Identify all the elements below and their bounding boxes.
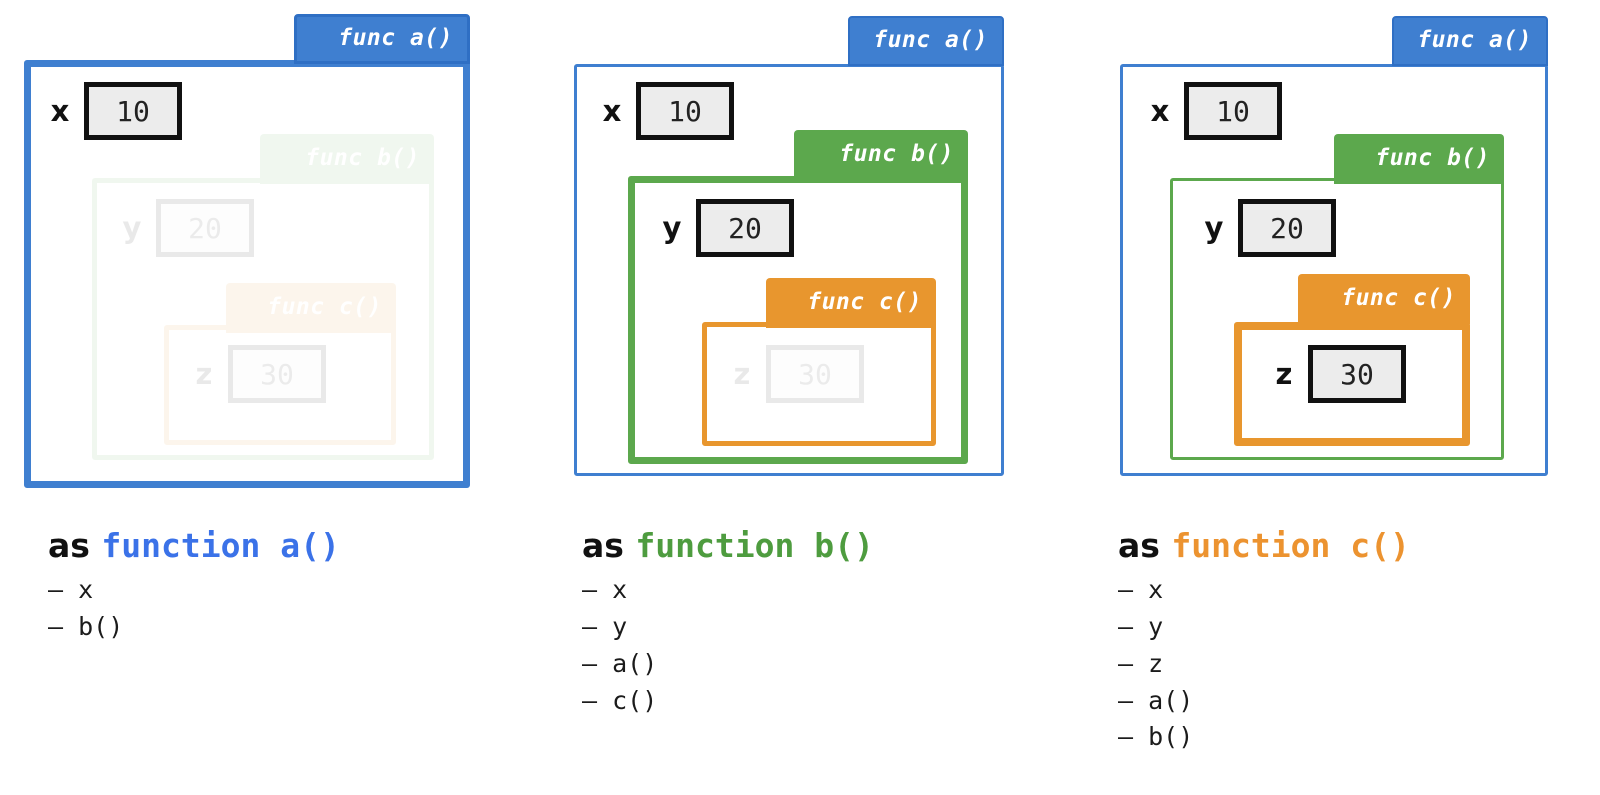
variable-x-name: x bbox=[1150, 97, 1170, 126]
caption-prefix: as bbox=[582, 526, 624, 565]
variable-x-value: 10 bbox=[84, 82, 182, 140]
variable-x-value: 10 bbox=[1184, 82, 1282, 140]
accessible-name: b() bbox=[1148, 722, 1193, 751]
scope-tab-b[interactable]: func b() bbox=[794, 130, 968, 180]
list-item: – x bbox=[582, 572, 1022, 609]
list-item: – a() bbox=[582, 646, 1022, 683]
variable-z: z 30 bbox=[1274, 345, 1406, 403]
variable-z-name: z bbox=[1274, 360, 1294, 389]
caption-title: as function c() bbox=[1118, 525, 1558, 566]
variable-x-value: 10 bbox=[636, 82, 734, 140]
caption-title: as function b() bbox=[582, 525, 1022, 566]
accessible-name: x bbox=[1148, 575, 1163, 604]
accessible-name: a() bbox=[612, 649, 657, 678]
variable-z: z 30 bbox=[194, 345, 326, 403]
variable-y: y 20 bbox=[122, 199, 254, 257]
bullet-dash: – bbox=[1118, 686, 1133, 715]
scope-tab-c[interactable]: func c() bbox=[226, 283, 396, 333]
accessible-name: x bbox=[78, 575, 93, 604]
variable-y-value: 20 bbox=[1238, 199, 1336, 257]
panel-function-c: func a() x 10 func b() y 20 func c() z 3… bbox=[1098, 0, 1598, 795]
bullet-dash: – bbox=[582, 612, 597, 641]
variable-x: x 10 bbox=[602, 82, 734, 140]
variable-z-value: 30 bbox=[228, 345, 326, 403]
accessible-names-list: – x – b() bbox=[48, 572, 488, 646]
variable-z-value: 30 bbox=[1308, 345, 1406, 403]
bullet-dash: – bbox=[48, 612, 63, 641]
list-item: – b() bbox=[48, 609, 488, 646]
bullet-dash: – bbox=[582, 686, 597, 715]
caption-function-a: as function a() – x – b() bbox=[48, 525, 488, 646]
panel-function-b: func a() x 10 func b() y 20 func c() z 3… bbox=[552, 0, 1052, 795]
list-item: – x bbox=[1118, 572, 1558, 609]
bullet-dash: – bbox=[1118, 722, 1133, 751]
accessible-name: b() bbox=[78, 612, 123, 641]
list-item: – b() bbox=[1118, 719, 1558, 756]
variable-z-name: z bbox=[194, 360, 214, 389]
scope-tab-c[interactable]: func c() bbox=[1298, 274, 1470, 324]
list-item: – c() bbox=[582, 683, 1022, 720]
list-item: – a() bbox=[1118, 683, 1558, 720]
list-item: – z bbox=[1118, 646, 1558, 683]
caption-function-b: as function b() – x – y – a() – c() bbox=[582, 525, 1022, 719]
accessible-name: c() bbox=[612, 686, 657, 715]
variable-y-name: y bbox=[662, 214, 682, 243]
variable-z-name: z bbox=[732, 360, 752, 389]
accessible-names-list: – x – y – z – a() – b() bbox=[1118, 572, 1558, 756]
variable-x: x 10 bbox=[1150, 82, 1282, 140]
caption-function-name: function c() bbox=[1171, 526, 1409, 565]
scope-tab-a[interactable]: func a() bbox=[294, 14, 470, 64]
variable-x: x 10 bbox=[50, 82, 182, 140]
list-item: – y bbox=[1118, 609, 1558, 646]
scope-tab-a[interactable]: func a() bbox=[1392, 16, 1548, 66]
accessible-name: a() bbox=[1148, 686, 1193, 715]
accessible-name: y bbox=[612, 612, 627, 641]
bullet-dash: – bbox=[582, 649, 597, 678]
caption-title: as function a() bbox=[48, 525, 488, 566]
variable-y-value: 20 bbox=[696, 199, 794, 257]
variable-y: y 20 bbox=[1204, 199, 1336, 257]
variable-y-value: 20 bbox=[156, 199, 254, 257]
caption-function-name: function b() bbox=[635, 526, 873, 565]
bullet-dash: – bbox=[1118, 649, 1133, 678]
accessible-name: z bbox=[1148, 649, 1163, 678]
scope-tab-c[interactable]: func c() bbox=[766, 278, 936, 328]
caption-prefix: as bbox=[1118, 526, 1160, 565]
scope-diagram: func a() x 10 func b() y 20 func c() z bbox=[0, 0, 1600, 795]
scope-tab-b[interactable]: func b() bbox=[260, 134, 434, 184]
accessible-name: x bbox=[612, 575, 627, 604]
caption-function-c: as function c() – x – y – z – a() – b() bbox=[1118, 525, 1558, 756]
bullet-dash: – bbox=[1118, 575, 1133, 604]
variable-z: z 30 bbox=[732, 345, 864, 403]
accessible-name: y bbox=[1148, 612, 1163, 641]
variable-y: y 20 bbox=[662, 199, 794, 257]
panel-function-a: func a() x 10 func b() y 20 func c() z bbox=[0, 0, 500, 795]
variable-x-name: x bbox=[602, 97, 622, 126]
scope-tab-b[interactable]: func b() bbox=[1334, 134, 1504, 184]
list-item: – y bbox=[582, 609, 1022, 646]
bullet-dash: – bbox=[48, 575, 63, 604]
caption-prefix: as bbox=[48, 526, 90, 565]
bullet-dash: – bbox=[1118, 612, 1133, 641]
scope-tab-a[interactable]: func a() bbox=[848, 16, 1004, 66]
caption-function-name: function a() bbox=[101, 526, 339, 565]
list-item: – x bbox=[48, 572, 488, 609]
accessible-names-list: – x – y – a() – c() bbox=[582, 572, 1022, 719]
variable-y-name: y bbox=[1204, 214, 1224, 243]
variable-z-value: 30 bbox=[766, 345, 864, 403]
variable-y-name: y bbox=[122, 214, 142, 243]
variable-x-name: x bbox=[50, 97, 70, 126]
bullet-dash: – bbox=[582, 575, 597, 604]
